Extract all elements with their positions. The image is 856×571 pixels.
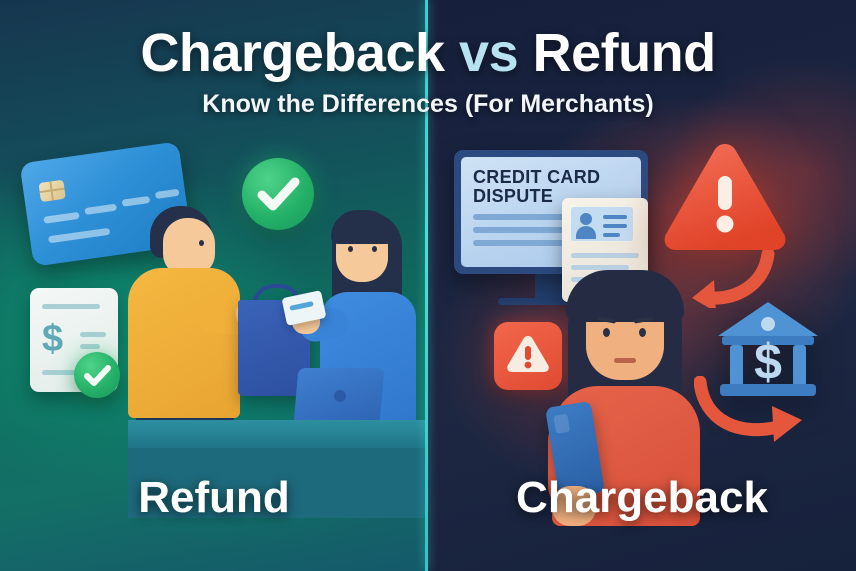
customer-eye: [372, 246, 377, 252]
page-subtitle: Know the Differences (For Merchants): [0, 90, 856, 119]
id-body-line: [571, 253, 639, 258]
dollar-sign-icon: $: [42, 320, 63, 358]
customer-hair-front: [566, 270, 684, 322]
card-number-segment: [122, 196, 151, 207]
merchant-eye: [199, 240, 204, 246]
curved-arrow-icon: [694, 376, 820, 448]
page-title: Chargeback vs Refund: [0, 0, 856, 84]
card-name-line: [48, 228, 110, 244]
receipt-line: [80, 344, 100, 349]
store-counter: [128, 420, 428, 448]
receipt-line: [42, 304, 100, 309]
curved-arrow-icon: [672, 250, 776, 308]
customer-eye: [348, 246, 353, 252]
label-chargeback: Chargeback: [428, 473, 856, 523]
monitor-headline-line1: CREDIT CARD: [473, 168, 629, 187]
warning-triangle-icon: [660, 138, 790, 254]
card-number-segment: [155, 189, 180, 199]
title-vs-word: vs: [459, 23, 518, 83]
monitor-body-line: [473, 240, 570, 246]
check-circle-icon: [242, 158, 314, 230]
card-chip-icon: [38, 180, 65, 202]
id-field-line: [603, 215, 627, 219]
alert-square-icon: [494, 322, 562, 390]
id-photo-area: [571, 207, 633, 241]
receipt-line: [80, 332, 106, 337]
check-badge-icon: [74, 352, 120, 398]
laptop-logo-icon: [334, 390, 346, 402]
title-chargeback-word: Chargeback: [140, 23, 444, 83]
card-number-segment: [43, 212, 80, 224]
eye: [603, 328, 610, 337]
person-icon-body: [576, 226, 596, 239]
id-field-line: [603, 233, 620, 237]
mouth: [614, 358, 636, 363]
title-block: Chargeback vs Refund Know the Difference…: [0, 0, 856, 119]
person-icon: [580, 213, 592, 225]
card-number-segment: [84, 204, 117, 215]
id-field-line: [603, 224, 627, 228]
eye: [639, 328, 646, 337]
label-refund: Refund: [0, 473, 428, 523]
merchant-figure: [128, 268, 240, 418]
title-refund-word: Refund: [533, 23, 716, 83]
infographic-canvas: $ CREDIT CARD DISPUTE: [0, 0, 856, 571]
